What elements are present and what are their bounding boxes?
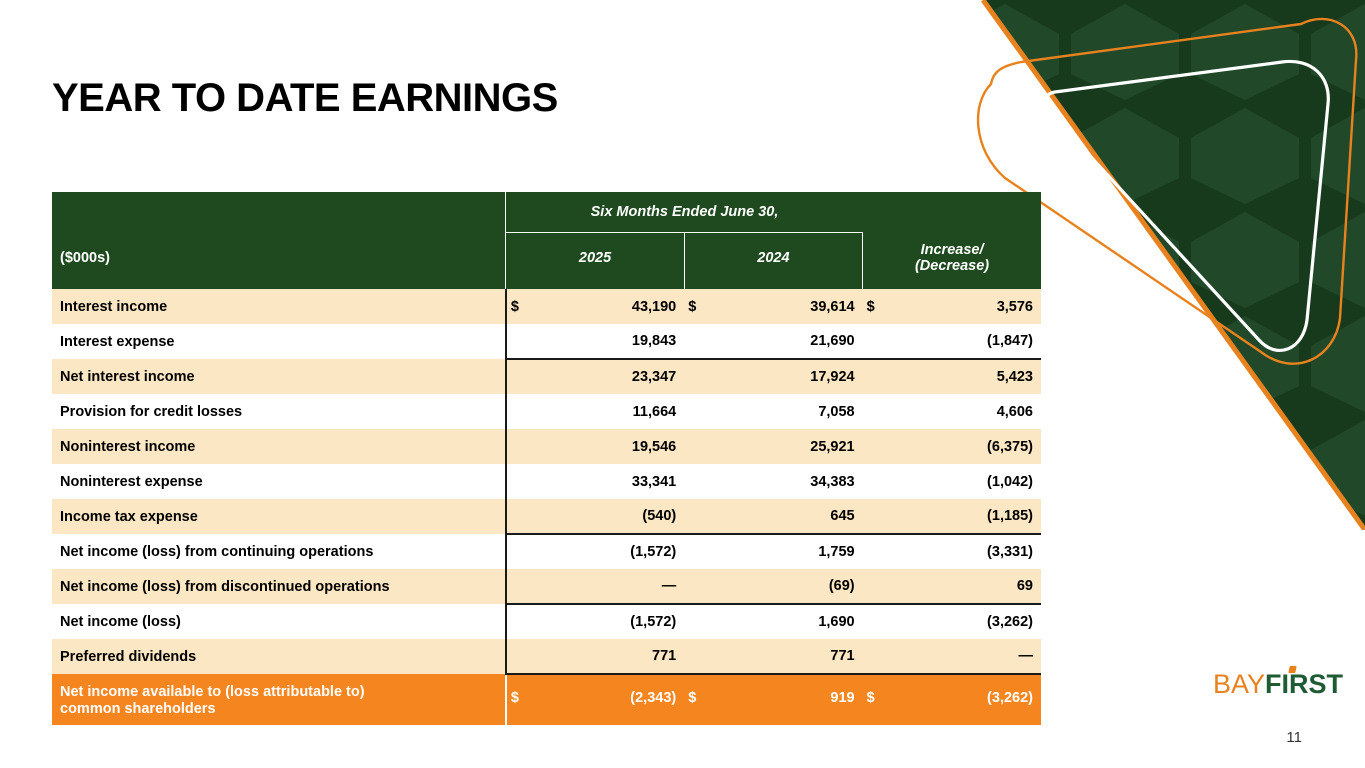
- cell-2025-currency-symbol: [506, 429, 516, 464]
- table-row: Net income (loss)(1,572)1,690(3,262): [52, 604, 1041, 639]
- cell-2025-currency-symbol: [506, 639, 516, 674]
- total-row-label-line1: Net income available to (loss attributab…: [60, 684, 505, 701]
- header-col-2025: 2025: [506, 233, 684, 290]
- table-row: Noninterest expense33,34134,383(1,042): [52, 464, 1041, 499]
- logo-bay-text: BAY: [1213, 669, 1265, 699]
- cell-2024-currency-symbol: [684, 359, 694, 394]
- cell-change: (6,375): [873, 429, 1041, 464]
- row-label: Preferred dividends: [52, 639, 506, 674]
- cell-2024: 17,924: [694, 359, 862, 394]
- header-increase-line1: Increase/: [863, 242, 1041, 258]
- total-change-currency-symbol: $: [863, 674, 873, 725]
- cell-change: 4,606: [873, 394, 1041, 429]
- cell-change-currency-symbol: [863, 359, 873, 394]
- bayfirst-logo: BAYFIRST: [1213, 669, 1343, 700]
- logo-dot-icon: [1288, 666, 1296, 673]
- cell-change-currency-symbol: [863, 394, 873, 429]
- cell-change: 3,576: [873, 289, 1041, 324]
- cell-2025-currency-symbol: [506, 534, 516, 569]
- cell-2024: 771: [694, 639, 862, 674]
- header-col-2024: 2024: [684, 233, 862, 290]
- cell-2024: 34,383: [694, 464, 862, 499]
- table-row: Preferred dividends771771—: [52, 639, 1041, 674]
- row-label: Noninterest income: [52, 429, 506, 464]
- cell-2024: 1,759: [694, 534, 862, 569]
- cell-2025-currency-symbol: [506, 604, 516, 639]
- table-row: Provision for credit losses11,6647,0584,…: [52, 394, 1041, 429]
- cell-2025-currency-symbol: [506, 464, 516, 499]
- cell-change: 69: [873, 569, 1041, 604]
- header-corner-blank: [52, 192, 506, 233]
- cell-2024-currency-symbol: [684, 499, 694, 534]
- total-change: (3,262): [873, 674, 1041, 725]
- cell-2025-currency-symbol: $: [506, 289, 516, 324]
- cell-change: 5,423: [873, 359, 1041, 394]
- cell-change-currency-symbol: [863, 499, 873, 534]
- cell-2025: (1,572): [516, 534, 684, 569]
- header-columns-row: ($000s) 2025 2024 Increase/ (Decrease): [52, 233, 1041, 290]
- cell-2024: 645: [694, 499, 862, 534]
- cell-change-currency-symbol: [863, 569, 873, 604]
- cell-2025: 19,546: [516, 429, 684, 464]
- header-units-label: ($000s): [52, 233, 506, 290]
- table-row: Net interest income23,34717,9245,423: [52, 359, 1041, 394]
- cell-2025: 11,664: [516, 394, 684, 429]
- cell-2025-currency-symbol: [506, 394, 516, 429]
- cell-change-currency-symbol: [863, 324, 873, 359]
- cell-2025-currency-symbol: [506, 569, 516, 604]
- cell-change: (3,262): [873, 604, 1041, 639]
- row-label: Provision for credit losses: [52, 394, 506, 429]
- cell-change: (1,185): [873, 499, 1041, 534]
- cell-change-currency-symbol: [863, 639, 873, 674]
- table-row: Interest income$43,190$39,614$3,576: [52, 289, 1041, 324]
- cell-2024-currency-symbol: $: [684, 289, 694, 324]
- cell-2025-currency-symbol: [506, 359, 516, 394]
- row-label: Interest expense: [52, 324, 506, 359]
- page-number: 11: [1286, 729, 1302, 746]
- cell-2024-currency-symbol: [684, 604, 694, 639]
- cell-change-currency-symbol: [863, 429, 873, 464]
- cell-2024-currency-symbol: [684, 534, 694, 569]
- cell-2024-currency-symbol: [684, 639, 694, 674]
- cell-2024: (69): [694, 569, 862, 604]
- table-header: Six Months Ended June 30, ($000s) 2025 2…: [52, 192, 1041, 289]
- cell-2024: 25,921: [694, 429, 862, 464]
- header-col-increase: Increase/ (Decrease): [863, 233, 1041, 290]
- row-label: Net income (loss) from continuing operat…: [52, 534, 506, 569]
- header-period-span: Six Months Ended June 30,: [506, 192, 863, 233]
- cell-change: (1,847): [873, 324, 1041, 359]
- table-row: Net income (loss) from discontinued oper…: [52, 569, 1041, 604]
- total-2025: (2,343): [516, 674, 684, 725]
- table-total-row: Net income available to (loss attributab…: [52, 674, 1041, 725]
- logo-first-text: FIRST: [1265, 669, 1343, 699]
- white-loop-outline: [1046, 61, 1328, 350]
- page-title: YEAR TO DATE EARNINGS: [52, 76, 558, 121]
- row-label: Noninterest expense: [52, 464, 506, 499]
- table-row: Net income (loss) from continuing operat…: [52, 534, 1041, 569]
- cell-2025: (1,572): [516, 604, 684, 639]
- cell-2025: 19,843: [516, 324, 684, 359]
- cell-change-currency-symbol: [863, 464, 873, 499]
- cell-2024-currency-symbol: [684, 464, 694, 499]
- cell-2025: 771: [516, 639, 684, 674]
- row-label: Net income (loss) from discontinued oper…: [52, 569, 506, 604]
- cell-change: —: [873, 639, 1041, 674]
- cell-2024: 7,058: [694, 394, 862, 429]
- row-label: Net interest income: [52, 359, 506, 394]
- row-label: Income tax expense: [52, 499, 506, 534]
- cell-2024-currency-symbol: [684, 569, 694, 604]
- cell-change: (1,042): [873, 464, 1041, 499]
- table-row: Interest expense19,84321,690(1,847): [52, 324, 1041, 359]
- cell-2025: 33,341: [516, 464, 684, 499]
- cell-change-currency-symbol: [863, 534, 873, 569]
- header-blank-right: [863, 192, 1041, 233]
- cell-2025: —: [516, 569, 684, 604]
- cell-2025: (540): [516, 499, 684, 534]
- cell-2024-currency-symbol: [684, 429, 694, 464]
- logo-first-label: FIRST: [1265, 669, 1343, 699]
- row-label: Net income (loss): [52, 604, 506, 639]
- total-row-label: Net income available to (loss attributab…: [52, 674, 506, 725]
- cell-2025-currency-symbol: [506, 324, 516, 359]
- cell-change-currency-symbol: $: [863, 289, 873, 324]
- cell-change: (3,331): [873, 534, 1041, 569]
- table-row: Noninterest income19,54625,921(6,375): [52, 429, 1041, 464]
- cell-2024: 39,614: [694, 289, 862, 324]
- cell-2024: 1,690: [694, 604, 862, 639]
- cell-2024-currency-symbol: [684, 394, 694, 429]
- header-span-row: Six Months Ended June 30,: [52, 192, 1041, 233]
- total-2025-currency-symbol: $: [506, 674, 516, 725]
- cell-2024-currency-symbol: [684, 324, 694, 359]
- cell-2025-currency-symbol: [506, 499, 516, 534]
- total-row-label-line2: common shareholders: [60, 701, 505, 718]
- cell-2025: 23,347: [516, 359, 684, 394]
- table-row: Income tax expense(540)645(1,185): [52, 499, 1041, 534]
- earnings-table: Six Months Ended June 30, ($000s) 2025 2…: [52, 192, 1041, 725]
- table-body: Interest income$43,190$39,614$3,576Inter…: [52, 289, 1041, 725]
- total-2024-currency-symbol: $: [684, 674, 694, 725]
- total-2024: 919: [694, 674, 862, 725]
- row-label: Interest income: [52, 289, 506, 324]
- cell-2024: 21,690: [694, 324, 862, 359]
- cell-2025: 43,190: [516, 289, 684, 324]
- cell-change-currency-symbol: [863, 604, 873, 639]
- header-increase-line2: (Decrease): [863, 258, 1041, 274]
